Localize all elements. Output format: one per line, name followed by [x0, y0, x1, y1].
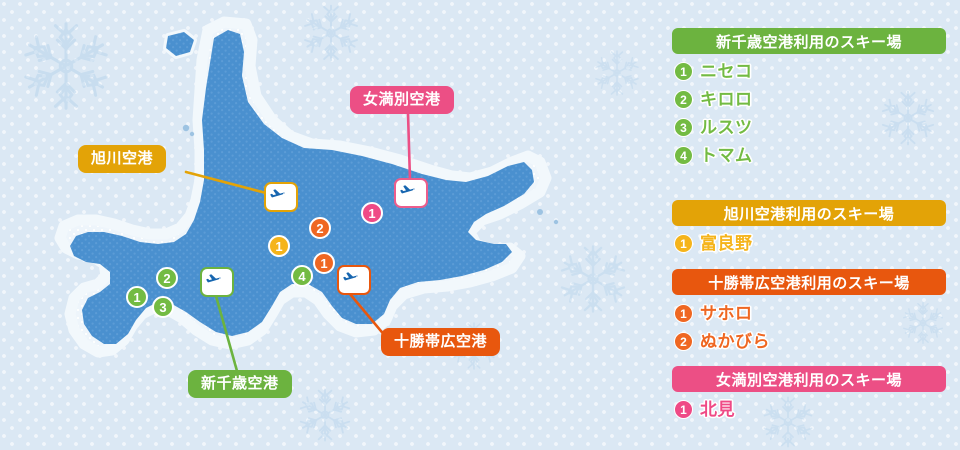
- legend-item-label: キロロ: [700, 91, 753, 108]
- legend-item-number: 1: [674, 400, 693, 419]
- islet-a: [183, 125, 189, 131]
- legend-header-memanbetsu: 女満別空港利用のスキー場: [672, 366, 946, 392]
- legend-item-number: 2: [674, 332, 693, 351]
- legend-item[interactable]: 1ニセコ: [674, 62, 753, 81]
- legend-item[interactable]: 1富良野: [674, 234, 753, 253]
- legend-item[interactable]: 2ぬかびら: [674, 332, 770, 351]
- resort-marker[interactable]: 1: [268, 235, 290, 257]
- legend-panel: 新千歳空港利用のスキー場1ニセコ2キロロ3ルスツ4トマム旭川空港利用のスキー場1…: [670, 0, 960, 450]
- airport-label-memanbetsu[interactable]: 女満別空港: [350, 86, 454, 114]
- legend-item-label: 富良野: [700, 235, 753, 252]
- resort-marker[interactable]: 1: [313, 252, 335, 274]
- legend-item-number: 1: [674, 304, 693, 323]
- legend-item[interactable]: 1北見: [674, 400, 735, 419]
- hokkaido-map: 旭川空港 女満別空港 新千歳空港 十勝帯広空港 12341121: [0, 0, 660, 450]
- airport-label-asahikawa[interactable]: 旭川空港: [78, 145, 166, 173]
- islet-c: [537, 209, 543, 215]
- airport-label-tokachiobihiro[interactable]: 十勝帯広空港: [381, 328, 500, 356]
- legend-item-number: 4: [674, 146, 693, 165]
- legend-item[interactable]: 1サホロ: [674, 304, 753, 323]
- hokkaido-ski-airport-map: 旭川空港 女満別空港 新千歳空港 十勝帯広空港 12341121 新千歳空港利用…: [0, 0, 960, 450]
- resort-marker[interactable]: 1: [361, 202, 383, 224]
- resort-marker[interactable]: 4: [291, 265, 313, 287]
- legend-header-asahikawa: 旭川空港利用のスキー場: [672, 200, 946, 226]
- legend-item[interactable]: 3ルスツ: [674, 118, 753, 137]
- legend-item-label: ニセコ: [700, 63, 753, 80]
- islet-b: [190, 132, 194, 136]
- legend-item-label: ルスツ: [700, 119, 753, 136]
- airport-marker-shinchitose[interactable]: [200, 267, 234, 297]
- legend-item-label: サホロ: [700, 305, 753, 322]
- resort-marker[interactable]: 2: [309, 217, 331, 239]
- airport-marker-asahikawa[interactable]: [264, 182, 298, 212]
- legend-item[interactable]: 4トマム: [674, 146, 753, 165]
- airport-marker-memanbetsu[interactable]: [394, 178, 428, 208]
- legend-item-label: トマム: [700, 147, 753, 164]
- islet-d: [554, 220, 558, 224]
- legend-item-label: ぬかびら: [700, 333, 770, 350]
- legend-item-label: 北見: [700, 401, 735, 418]
- resort-marker[interactable]: 2: [156, 267, 178, 289]
- airport-label-shinchitose[interactable]: 新千歳空港: [188, 370, 292, 398]
- legend-header-shinchitose: 新千歳空港利用のスキー場: [672, 28, 946, 54]
- legend-item-number: 1: [674, 62, 693, 81]
- legend-header-tokachiobihiro: 十勝帯広空港利用のスキー場: [672, 269, 946, 295]
- legend-item-number: 2: [674, 90, 693, 109]
- airport-marker-tokachiobihiro[interactable]: [337, 265, 371, 295]
- legend-item-number: 1: [674, 234, 693, 253]
- legend-item[interactable]: 2キロロ: [674, 90, 753, 109]
- legend-item-number: 3: [674, 118, 693, 137]
- resort-marker[interactable]: 1: [126, 286, 148, 308]
- resort-marker[interactable]: 3: [152, 296, 174, 318]
